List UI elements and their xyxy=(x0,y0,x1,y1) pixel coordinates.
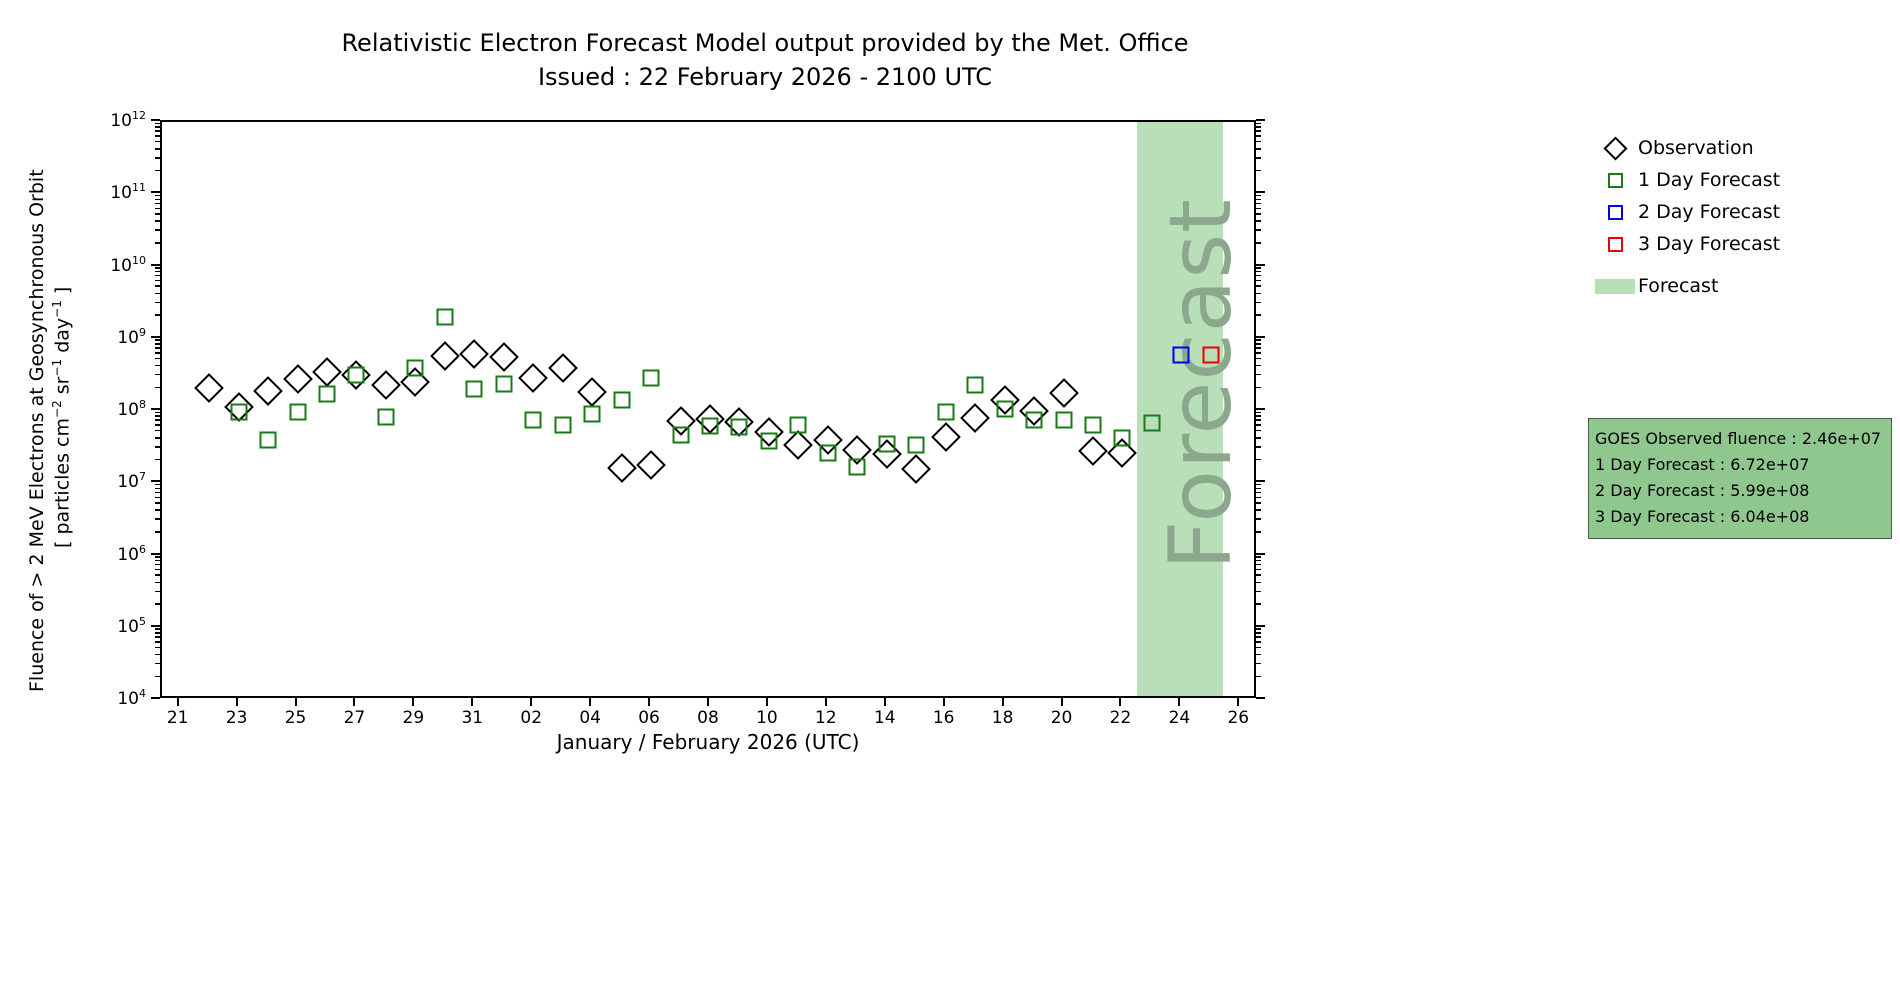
y-tick-minor xyxy=(155,647,160,649)
info-box-line: 3 Day Forecast : 6.04e+08 xyxy=(1595,504,1885,530)
y-tick-major-right xyxy=(1256,408,1265,410)
y-tick-minor-right xyxy=(1256,663,1261,665)
y-tick-minor xyxy=(155,387,160,389)
y-tick-minor xyxy=(155,213,160,215)
y-tick-minor-right xyxy=(1256,628,1261,630)
y-tick-minor xyxy=(155,293,160,295)
y-tick-minor xyxy=(155,509,160,511)
y-axis-label-group: Fluence of > 2 MeV Electrons at Geosynch… xyxy=(0,120,60,698)
y-tick-label: 108 xyxy=(117,398,146,420)
y-tick-minor-right xyxy=(1256,352,1261,354)
y-tick-minor-right xyxy=(1256,280,1261,282)
y-tick-minor xyxy=(155,574,160,576)
x-tick-mark xyxy=(884,698,886,706)
x-tick-label: 21 xyxy=(167,708,189,728)
y-tick-minor xyxy=(155,285,160,287)
y-tick-minor xyxy=(155,502,160,504)
legend-item-2-day-forecast[interactable]: 2 Day Forecast xyxy=(1592,196,1892,228)
y-tick-minor-right xyxy=(1256,654,1261,656)
x-tick-label: 29 xyxy=(403,708,425,728)
y-tick-minor xyxy=(155,419,160,421)
x-tick-label: 24 xyxy=(1169,708,1191,728)
y-tick-minor xyxy=(155,497,160,499)
legend-item-observation[interactable]: Observation xyxy=(1592,132,1892,164)
observation-diamond-icon xyxy=(1603,136,1627,160)
y-tick-minor-right xyxy=(1256,556,1261,558)
y-tick-minor xyxy=(155,582,160,584)
y-tick-major xyxy=(151,119,160,121)
y-tick-minor xyxy=(155,424,160,426)
y-tick-minor-right xyxy=(1256,141,1261,143)
y-tick-major-right xyxy=(1256,625,1265,627)
y-tick-minor-right xyxy=(1256,242,1261,244)
y-tick-minor xyxy=(155,632,160,634)
y-tick-minor-right xyxy=(1256,148,1261,150)
y-tick-minor-right xyxy=(1256,267,1261,269)
legend-label: Forecast xyxy=(1638,275,1718,297)
x-tick-label: 04 xyxy=(579,708,601,728)
info-box-line: GOES Observed fluence : 2.46e+07 xyxy=(1595,426,1885,452)
y-tick-minor-right xyxy=(1256,582,1261,584)
y-tick-minor xyxy=(155,488,160,490)
page-subtitle: Issued : 22 February 2026 - 2100 UTC xyxy=(0,60,1530,94)
legend-label: Observation xyxy=(1638,137,1754,159)
y-axis-units-sup3: −1 xyxy=(50,300,64,318)
y-tick-minor-right xyxy=(1256,123,1261,125)
y-tick-minor-right xyxy=(1256,285,1261,287)
y-axis-label-line2: [ particles cm−2 sr−1 day−1 ] xyxy=(50,287,73,548)
y-tick-label: 106 xyxy=(117,543,146,565)
x-tick-mark xyxy=(766,698,768,706)
y-tick-label: 104 xyxy=(117,687,146,709)
y-tick-minor xyxy=(155,641,160,643)
x-tick-mark xyxy=(589,698,591,706)
y-tick-minor xyxy=(155,603,160,605)
forecast-info-box: GOES Observed fluence : 2.46e+071 Day Fo… xyxy=(1588,418,1892,539)
y-tick-major-right xyxy=(1256,191,1265,193)
x-tick-mark xyxy=(1002,698,1004,706)
y-tick-label: 1011 xyxy=(110,181,146,203)
x-tick-label: 18 xyxy=(992,708,1014,728)
y-tick-minor xyxy=(155,280,160,282)
y-tick-major-right xyxy=(1256,264,1265,266)
y-tick-minor-right xyxy=(1256,170,1261,172)
y-tick-minor xyxy=(155,560,160,562)
forecast-square-icon xyxy=(1608,173,1623,188)
y-axis-ticks: 104105106107108109101010111012 xyxy=(160,120,1256,698)
y-tick-minor-right xyxy=(1256,569,1261,571)
y-axis-units-text: [ particles cm xyxy=(51,418,73,548)
y-tick-minor xyxy=(155,170,160,172)
forecast-square-icon xyxy=(1608,205,1623,220)
y-tick-minor xyxy=(155,676,160,678)
x-tick-mark xyxy=(177,698,179,706)
legend-item-forecast[interactable]: Forecast xyxy=(1592,270,1892,302)
y-tick-minor-right xyxy=(1256,347,1261,349)
y-tick-minor-right xyxy=(1256,293,1261,295)
y-tick-minor-right xyxy=(1256,488,1261,490)
y-tick-minor-right xyxy=(1256,560,1261,562)
y-tick-minor-right xyxy=(1256,430,1261,432)
y-tick-minor-right xyxy=(1256,302,1261,304)
y-tick-label: 105 xyxy=(117,615,146,637)
y-tick-minor xyxy=(155,157,160,159)
y-axis-units-sup1: −2 xyxy=(50,400,64,418)
y-tick-minor xyxy=(155,275,160,277)
x-tick-mark xyxy=(412,698,414,706)
y-tick-minor xyxy=(155,220,160,222)
x-tick-mark xyxy=(825,698,827,706)
y-tick-minor xyxy=(155,347,160,349)
y-tick-minor-right xyxy=(1256,574,1261,576)
x-tick-label: 22 xyxy=(1110,708,1132,728)
y-tick-minor xyxy=(155,141,160,143)
y-tick-minor-right xyxy=(1256,497,1261,499)
y-tick-major xyxy=(151,480,160,482)
y-tick-minor xyxy=(155,267,160,269)
legend-item-1-day-forecast[interactable]: 1 Day Forecast xyxy=(1592,164,1892,196)
chart-legend: Observation1 Day Forecast2 Day Forecast3… xyxy=(1592,132,1892,302)
x-tick-mark xyxy=(471,698,473,706)
y-tick-minor-right xyxy=(1256,130,1261,132)
y-axis-units-mid: sr xyxy=(51,377,73,401)
y-tick-minor xyxy=(155,437,160,439)
y-tick-minor xyxy=(155,484,160,486)
y-tick-minor-right xyxy=(1256,203,1261,205)
y-tick-minor-right xyxy=(1256,220,1261,222)
info-box-line: 1 Day Forecast : 6.72e+07 xyxy=(1595,452,1885,478)
y-tick-major xyxy=(151,336,160,338)
y-tick-minor xyxy=(155,130,160,132)
y-tick-minor xyxy=(155,148,160,150)
y-tick-minor-right xyxy=(1256,365,1261,367)
x-tick-label: 12 xyxy=(815,708,837,728)
y-tick-minor-right xyxy=(1256,492,1261,494)
y-tick-minor-right xyxy=(1256,484,1261,486)
y-tick-minor-right xyxy=(1256,199,1261,201)
x-tick-label: 26 xyxy=(1227,708,1249,728)
y-tick-minor-right xyxy=(1256,531,1261,533)
x-tick-label: 08 xyxy=(697,708,719,728)
y-axis-units-end: ] xyxy=(51,287,73,300)
y-tick-minor xyxy=(155,459,160,461)
y-tick-minor-right xyxy=(1256,647,1261,649)
x-tick-mark xyxy=(1061,698,1063,706)
x-tick-mark xyxy=(707,698,709,706)
page-title: Relativistic Electron Forecast Model out… xyxy=(0,26,1530,60)
legend-key xyxy=(1592,237,1638,252)
y-axis-label-line1: Fluence of > 2 MeV Electrons at Geosynch… xyxy=(26,169,48,692)
y-tick-minor-right xyxy=(1256,564,1261,566)
y-tick-label: 109 xyxy=(117,326,146,348)
y-tick-minor xyxy=(155,365,160,367)
x-tick-mark xyxy=(1178,698,1180,706)
y-tick-minor-right xyxy=(1256,213,1261,215)
y-tick-label: 107 xyxy=(117,470,146,492)
y-tick-minor-right xyxy=(1256,641,1261,643)
y-tick-minor-right xyxy=(1256,446,1261,448)
legend-label: 1 Day Forecast xyxy=(1638,169,1780,191)
x-tick-mark xyxy=(1237,698,1239,706)
x-tick-mark xyxy=(236,698,238,706)
x-tick-label: 16 xyxy=(933,708,955,728)
y-tick-minor xyxy=(155,343,160,345)
x-tick-label: 14 xyxy=(874,708,896,728)
x-tick-label: 31 xyxy=(461,708,483,728)
y-tick-minor-right xyxy=(1256,502,1261,504)
y-tick-minor xyxy=(155,208,160,210)
y-tick-minor xyxy=(155,302,160,304)
y-tick-minor-right xyxy=(1256,358,1261,360)
legend-label: 3 Day Forecast xyxy=(1638,233,1780,255)
y-tick-minor-right xyxy=(1256,415,1261,417)
y-tick-major-right xyxy=(1256,336,1265,338)
y-tick-minor-right xyxy=(1256,271,1261,273)
info-box-line: 2 Day Forecast : 5.99e+08 xyxy=(1595,478,1885,504)
y-tick-label: 1012 xyxy=(110,109,146,131)
legend-label: 2 Day Forecast xyxy=(1638,201,1780,223)
y-tick-minor xyxy=(155,492,160,494)
y-tick-minor xyxy=(155,358,160,360)
y-tick-major xyxy=(151,625,160,627)
y-tick-minor-right xyxy=(1256,424,1261,426)
y-tick-minor xyxy=(155,569,160,571)
y-tick-minor-right xyxy=(1256,208,1261,210)
forecast-band-swatch-icon xyxy=(1595,279,1635,294)
x-tick-mark xyxy=(648,698,650,706)
y-tick-minor-right xyxy=(1256,412,1261,414)
legend-key xyxy=(1592,173,1638,188)
x-tick-label: 23 xyxy=(226,708,248,728)
y-tick-minor xyxy=(155,663,160,665)
x-tick-mark xyxy=(530,698,532,706)
y-tick-label: 1010 xyxy=(110,254,146,276)
y-tick-major xyxy=(151,264,160,266)
y-tick-minor-right xyxy=(1256,518,1261,520)
y-tick-minor-right xyxy=(1256,343,1261,345)
y-tick-minor-right xyxy=(1256,339,1261,341)
x-tick-label: 27 xyxy=(344,708,366,728)
forecast-square-icon xyxy=(1608,237,1623,252)
y-tick-minor-right xyxy=(1256,419,1261,421)
y-tick-minor xyxy=(155,374,160,376)
y-tick-minor-right xyxy=(1256,275,1261,277)
y-tick-minor xyxy=(155,518,160,520)
y-tick-major xyxy=(151,191,160,193)
x-tick-label: 06 xyxy=(638,708,660,728)
y-tick-minor xyxy=(155,556,160,558)
legend-key xyxy=(1592,140,1638,157)
legend-key xyxy=(1592,205,1638,220)
y-axis-units-mid2: day xyxy=(51,318,73,359)
y-tick-major xyxy=(151,553,160,555)
y-tick-minor xyxy=(155,339,160,341)
y-tick-minor xyxy=(155,628,160,630)
x-tick-label: 20 xyxy=(1051,708,1073,728)
y-tick-minor-right xyxy=(1256,387,1261,389)
x-tick-label: 02 xyxy=(520,708,542,728)
x-axis-label: January / February 2026 (UTC) xyxy=(160,730,1256,754)
y-tick-minor-right xyxy=(1256,459,1261,461)
y-tick-minor-right xyxy=(1256,603,1261,605)
y-tick-minor xyxy=(155,229,160,231)
y-tick-major xyxy=(151,697,160,699)
y-tick-major-right xyxy=(1256,480,1265,482)
y-tick-minor xyxy=(155,415,160,417)
y-tick-minor-right xyxy=(1256,126,1261,128)
y-tick-minor xyxy=(155,430,160,432)
y-tick-minor xyxy=(155,123,160,125)
y-tick-minor xyxy=(155,531,160,533)
y-tick-minor-right xyxy=(1256,374,1261,376)
y-tick-minor-right xyxy=(1256,157,1261,159)
x-tick-label: 10 xyxy=(756,708,778,728)
y-tick-minor-right xyxy=(1256,632,1261,634)
y-tick-minor xyxy=(155,195,160,197)
chart-page: Relativistic Electron Forecast Model out… xyxy=(0,0,1900,1000)
y-axis-units-sup2: −1 xyxy=(50,359,64,377)
y-tick-minor xyxy=(155,242,160,244)
x-tick-label: 25 xyxy=(285,708,307,728)
y-tick-minor-right xyxy=(1256,509,1261,511)
x-tick-mark xyxy=(295,698,297,706)
y-tick-minor xyxy=(155,135,160,137)
y-tick-minor xyxy=(155,203,160,205)
y-tick-minor xyxy=(155,591,160,593)
y-tick-minor xyxy=(155,199,160,201)
y-tick-major-right xyxy=(1256,697,1265,699)
y-tick-minor xyxy=(155,271,160,273)
x-tick-mark xyxy=(353,698,355,706)
y-tick-major-right xyxy=(1256,553,1265,555)
y-tick-minor xyxy=(155,314,160,316)
y-tick-major-right xyxy=(1256,119,1265,121)
y-tick-minor xyxy=(155,126,160,128)
y-tick-minor-right xyxy=(1256,636,1261,638)
y-tick-minor xyxy=(155,412,160,414)
y-tick-minor xyxy=(155,352,160,354)
y-tick-minor-right xyxy=(1256,314,1261,316)
y-tick-minor-right xyxy=(1256,135,1261,137)
y-tick-major xyxy=(151,408,160,410)
x-tick-mark xyxy=(1119,698,1121,706)
y-tick-minor-right xyxy=(1256,437,1261,439)
y-tick-minor-right xyxy=(1256,676,1261,678)
y-tick-minor-right xyxy=(1256,591,1261,593)
y-tick-minor xyxy=(155,636,160,638)
legend-item-3-day-forecast[interactable]: 3 Day Forecast xyxy=(1592,228,1892,260)
y-tick-minor-right xyxy=(1256,195,1261,197)
y-tick-minor xyxy=(155,654,160,656)
x-tick-mark xyxy=(943,698,945,706)
chart-title-block: Relativistic Electron Forecast Model out… xyxy=(0,26,1530,94)
legend-key xyxy=(1592,279,1638,294)
y-tick-minor-right xyxy=(1256,229,1261,231)
y-tick-minor xyxy=(155,564,160,566)
y-tick-minor xyxy=(155,446,160,448)
